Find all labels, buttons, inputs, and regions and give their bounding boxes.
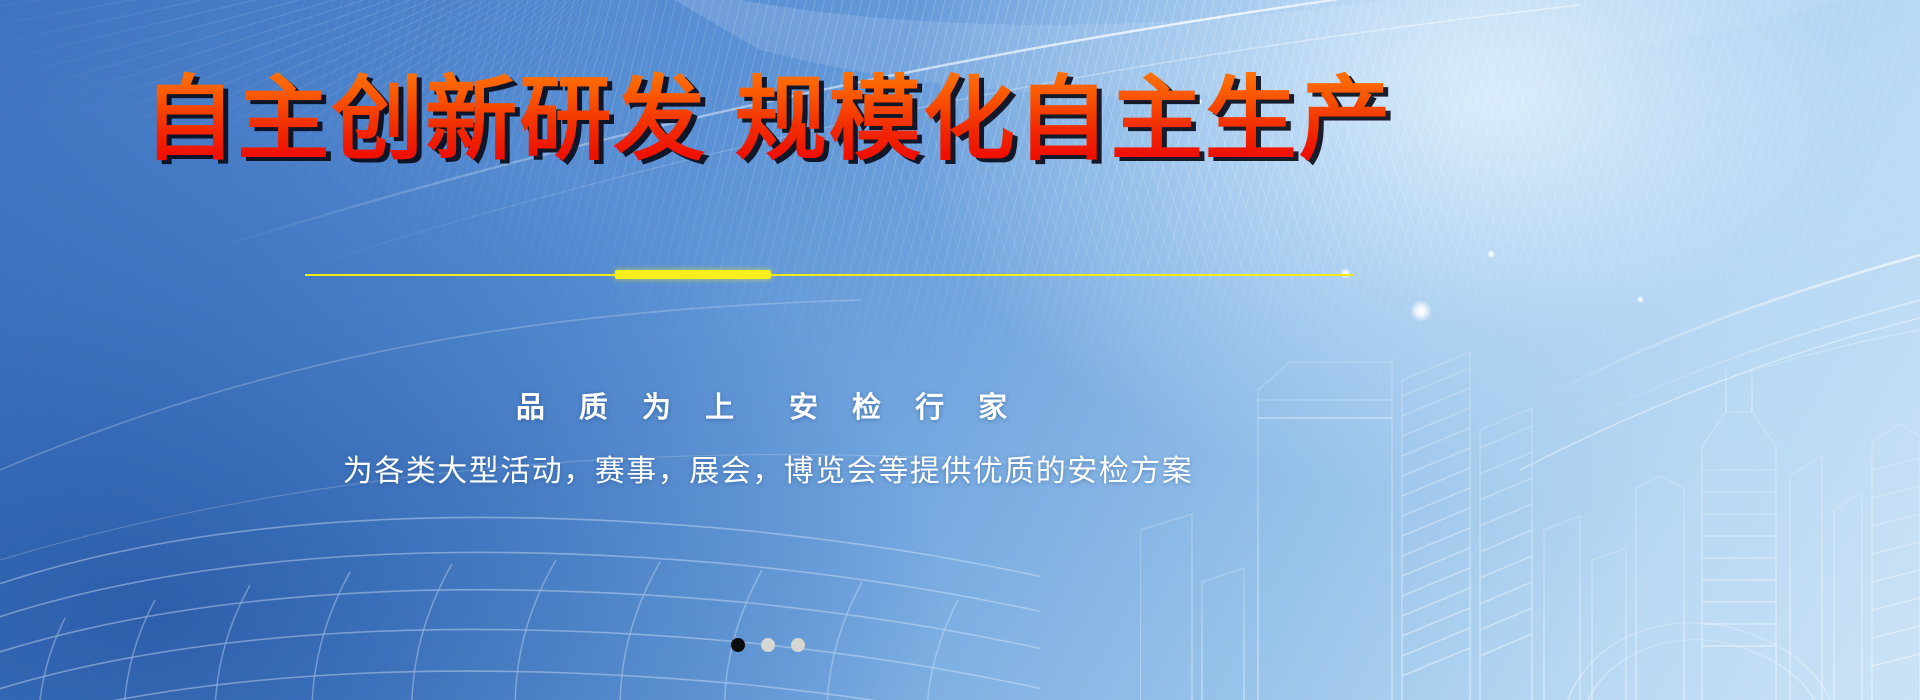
carousel-dot-1[interactable] [731, 638, 745, 652]
divider-thick-line [615, 270, 771, 279]
banner-content: 自主创新研发 规模化自主生产 品 质 为 上 安 检 行 家 为各类大型活动，赛… [0, 0, 1920, 700]
banner-slogan: 品 质 为 上 安 检 行 家 [0, 384, 1536, 426]
banner-description: 为各类大型活动，赛事，展会，博览会等提供优质的安检方案 [0, 446, 1536, 490]
carousel-dot-2[interactable] [761, 638, 775, 652]
divider-thin-line [305, 274, 1353, 276]
carousel-dots [0, 638, 1536, 652]
yellow-divider [0, 268, 1536, 282]
hero-banner: 自主创新研发 规模化自主生产 品 质 为 上 安 检 行 家 为各类大型活动，赛… [0, 0, 1920, 700]
banner-headline: 自主创新研发 规模化自主生产 [0, 64, 1536, 176]
carousel-dot-3[interactable] [791, 638, 805, 652]
